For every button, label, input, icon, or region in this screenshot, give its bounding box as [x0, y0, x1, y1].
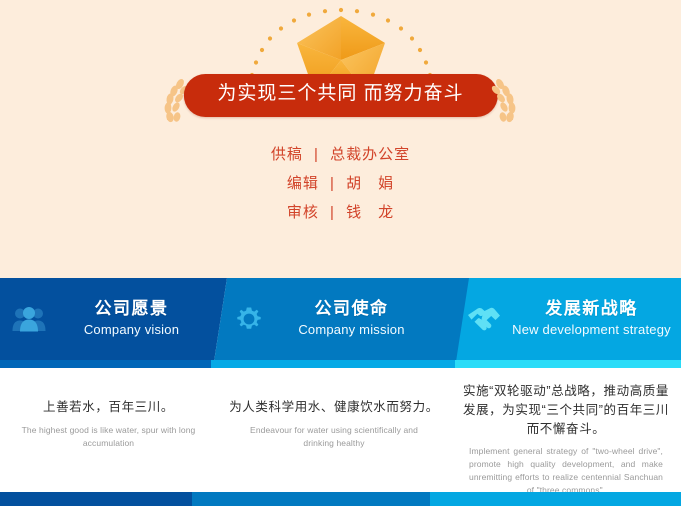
content-en: Implement general strategy of "two-wheel…	[455, 445, 677, 497]
content-cell-strategy: 实施“双轮驱动”总战略，推动高质量发展，为实现“三个共同”的百年三川而不懈奋斗。…	[455, 368, 677, 486]
pillar-title-en: New development strategy	[505, 320, 678, 340]
credit-label: 供稿	[271, 146, 303, 163]
wheat-branch-right-icon	[490, 76, 520, 126]
footer-strip-light	[430, 492, 681, 506]
credit-label: 编辑	[287, 175, 319, 192]
pillar-header-mission: 公司使命 Company mission	[228, 278, 433, 360]
content-en: The highest good is like water, spur wit…	[6, 424, 211, 450]
pillar-title-en: Company vision	[50, 320, 213, 340]
pillars-content: 上善若水，百年三川。 The highest good is like wate…	[0, 368, 681, 486]
underline-segment-mission	[211, 360, 461, 368]
credit-line-contributor: 供稿 | 总裁办公室	[0, 140, 681, 169]
pillar-title-cn: 发展新战略	[505, 298, 678, 320]
content-en: Endeavour for water using scientifically…	[228, 424, 440, 450]
footer-strip-dark	[0, 492, 192, 506]
credit-value: 钱 龙	[346, 204, 394, 221]
slogan-pill: 为实现三个共同 而努力奋斗	[183, 74, 497, 117]
credit-separator: |	[308, 146, 325, 163]
content-cn: 为人类科学用水、健康饮水而努力。	[228, 398, 440, 417]
pillar-title-cn: 公司使命	[270, 298, 433, 320]
content-cell-mission: 为人类科学用水、健康饮水而努力。 Endeavour for water usi…	[228, 368, 440, 486]
underline-segment-vision	[0, 360, 215, 368]
gear-icon	[228, 304, 270, 334]
content-cell-vision: 上善若水，百年三川。 The highest good is like wate…	[6, 368, 211, 486]
credit-label: 审核	[287, 204, 319, 221]
star-decoration	[0, 0, 681, 85]
content-cn: 实施“双轮驱动”总战略，推动高质量发展，为实现“三个共同”的百年三川而不懈奋斗。	[455, 382, 677, 439]
footer-color-strip	[0, 492, 681, 506]
credit-line-reviewer: 审核 | 钱 龙	[0, 198, 681, 227]
pillar-title-group: 公司愿景 Company vision	[50, 298, 213, 340]
pillar-title-en: Company mission	[270, 320, 433, 340]
credits-block: 供稿 | 总裁办公室 编辑 | 胡 娟 审核 | 钱 龙	[0, 140, 681, 227]
credit-value: 总裁办公室	[330, 146, 410, 163]
content-cn: 上善若水，百年三川。	[6, 398, 211, 417]
credit-separator: |	[324, 204, 341, 221]
underline-segment-strategy	[455, 360, 681, 368]
poster-page: 为实现三个共同 而努力奋斗 供稿 |	[0, 0, 681, 506]
pillars-banner: 公司愿景 Company vision 公司使命 Company mission	[0, 278, 681, 368]
pillar-title-group: 公司使命 Company mission	[270, 298, 433, 340]
hero-section: 为实现三个共同 而努力奋斗 供稿 |	[0, 0, 681, 278]
footer-strip-mid	[192, 492, 430, 506]
pillar-header-strategy: 发展新战略 New development strategy	[463, 278, 678, 360]
pillar-title-cn: 公司愿景	[50, 298, 213, 320]
pillar-title-group: 发展新战略 New development strategy	[505, 298, 678, 340]
credit-line-editor: 编辑 | 胡 娟	[0, 169, 681, 198]
banner-underline	[0, 360, 681, 368]
people-group-icon	[8, 306, 50, 332]
slogan-row: 为实现三个共同 而努力奋斗	[0, 74, 681, 128]
credit-separator: |	[324, 175, 341, 192]
handshake-icon	[463, 305, 505, 333]
credit-value: 胡 娟	[346, 175, 394, 192]
pillar-header-vision: 公司愿景 Company vision	[8, 278, 213, 360]
